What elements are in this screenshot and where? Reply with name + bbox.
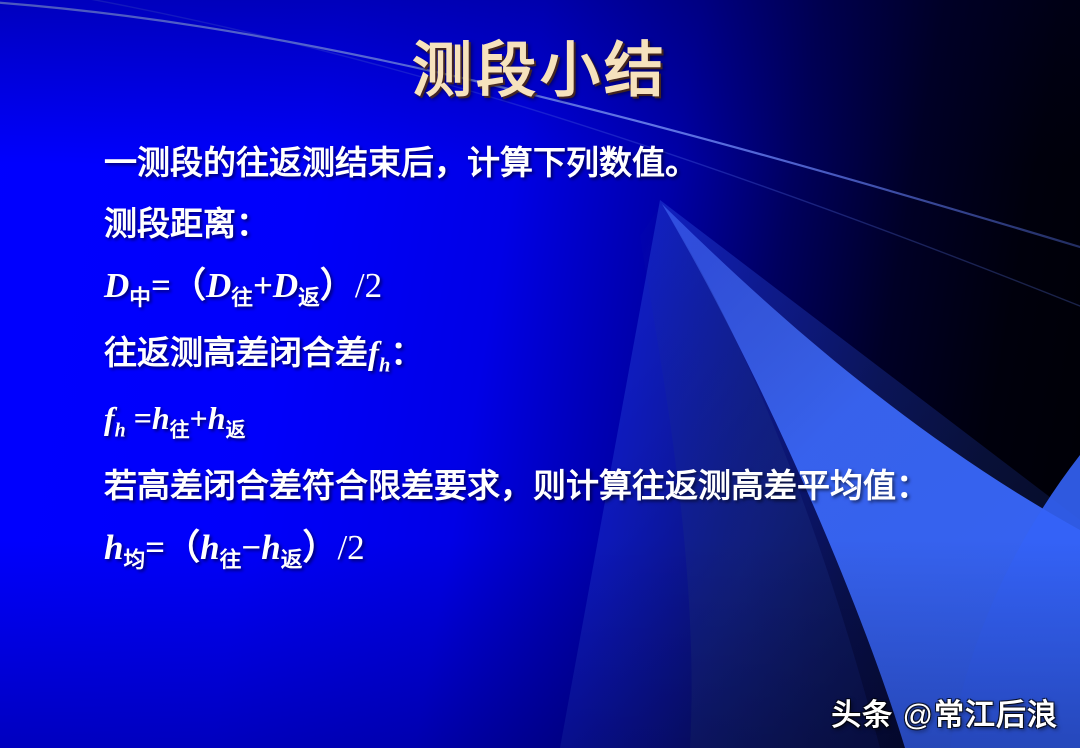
body-line-mean-label: 若高差闭合差符合限差要求，则计算往返测高差平均值： xyxy=(104,471,1054,504)
closure-formula-var-f: f xyxy=(104,400,115,436)
closure-formula-var-h-back: h xyxy=(208,400,226,436)
formula-sub-out: 往 xyxy=(231,286,253,310)
mean-var-h-out: h xyxy=(200,528,219,567)
watermark: 头条 @常江后浪 xyxy=(831,690,1058,734)
body-line-intro: 一测段的往返测结束后，计算下列数值。 xyxy=(104,148,1054,181)
formula-segment-distance: D中=（D往+D返）/2 xyxy=(104,268,1054,310)
closure-formula-equals: = xyxy=(134,400,152,436)
formula-height-closure: fh =h往+h返 xyxy=(104,402,1054,441)
formula-var-d-back: D xyxy=(273,266,298,305)
mean-var-h-back: h xyxy=(261,528,280,567)
mean-divide-two: /2 xyxy=(337,528,364,567)
slide-title: 测段小结 xyxy=(0,22,1080,109)
mean-right-paren: ） xyxy=(302,528,337,567)
mean-var-h: h xyxy=(104,528,123,567)
closure-var-f: f xyxy=(368,336,379,372)
mean-minus: − xyxy=(241,528,261,567)
slide-body: 一测段的往返测结束后，计算下列数值。 测段距离： D中=（D往+D返）/2 往返… xyxy=(104,148,1054,600)
closure-formula-sub-back: 返 xyxy=(226,419,246,441)
closure-formula-sub-out: 往 xyxy=(170,419,190,441)
formula-equals: = xyxy=(151,266,171,305)
watermark-brand: 头条 xyxy=(831,699,893,732)
watermark-at-icon: @ xyxy=(903,699,934,732)
closure-colon: ： xyxy=(390,336,423,372)
formula-var-d-out: D xyxy=(206,266,231,305)
closure-sub-h: h xyxy=(379,354,390,376)
formula-sub-back: 返 xyxy=(298,286,320,310)
mean-sub-back: 返 xyxy=(281,548,303,572)
formula-plus: + xyxy=(253,266,273,305)
watermark-handle: 常江后浪 xyxy=(934,699,1058,732)
formula-mean-height: h均=（h往−h返）/2 xyxy=(104,530,1054,572)
formula-var-d-mid: D xyxy=(104,266,129,305)
mean-equals: = xyxy=(145,528,165,567)
closure-formula-sub-h: h xyxy=(115,419,126,441)
mean-sub-out: 往 xyxy=(220,548,242,572)
formula-divide-two: /2 xyxy=(355,266,382,305)
body-line-closure-label: 往返测高差闭合差fh： xyxy=(104,338,1054,376)
formula-left-paren: （ xyxy=(171,266,206,305)
formula-right-paren: ） xyxy=(320,266,355,305)
closure-label-lead: 往返测高差闭合差 xyxy=(104,336,368,372)
presentation-slide: 测段小结 一测段的往返测结束后，计算下列数值。 测段距离： D中=（D往+D返）… xyxy=(0,0,1080,748)
mean-sub-avg: 均 xyxy=(123,548,145,572)
body-line-distance-label: 测段距离： xyxy=(104,209,1054,242)
closure-formula-var-h-out: h xyxy=(152,400,170,436)
mean-left-paren: （ xyxy=(165,528,200,567)
formula-sub-mid: 中 xyxy=(129,286,151,310)
closure-formula-plus: + xyxy=(190,400,208,436)
